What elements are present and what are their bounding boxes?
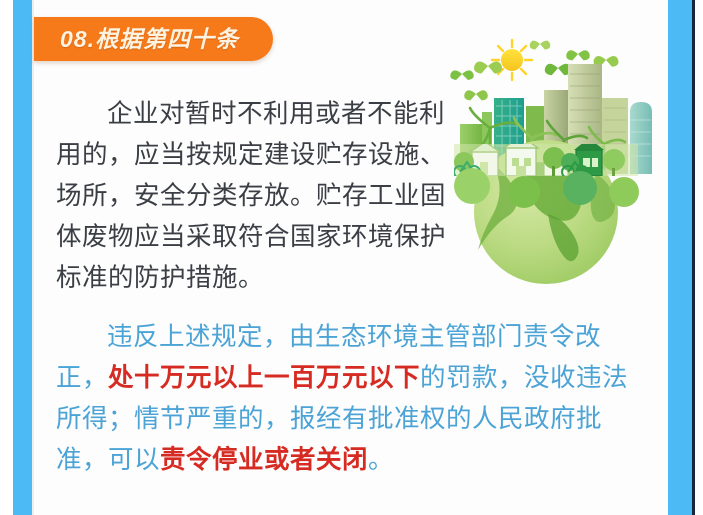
right-blue-rail	[668, 0, 693, 515]
penalty-emphasis-shutdown: 责令停业或者关闭	[160, 446, 368, 474]
right-dark-edge	[692, 0, 695, 515]
card-left-edge	[32, 0, 34, 515]
body-copy: 企业对暂时不利用或者不能利用的，应当按规定建设贮存设施、场所，安全分类存放。贮存…	[56, 94, 640, 481]
penalty-emphasis-fine-range: 处十万元以上一百万元以下	[108, 364, 420, 392]
section-badge-label: 08.根据第四十条	[60, 28, 239, 51]
section-badge: 08.根据第四十条	[34, 17, 273, 61]
poster-canvas: 08.根据第四十条	[0, 0, 703, 515]
paragraph-penalty: 违反上述规定，由生态环境主管部门责令改正，处十万元以上一百万元以下的罚款，没收违…	[56, 317, 640, 481]
left-blue-rail	[13, 0, 32, 515]
penalty-text-segment-3: 。	[368, 446, 394, 474]
paragraph-provision: 企业对暂时不利用或者不能利用的，应当按规定建设贮存设施、场所，安全分类存放。贮存…	[56, 94, 456, 299]
